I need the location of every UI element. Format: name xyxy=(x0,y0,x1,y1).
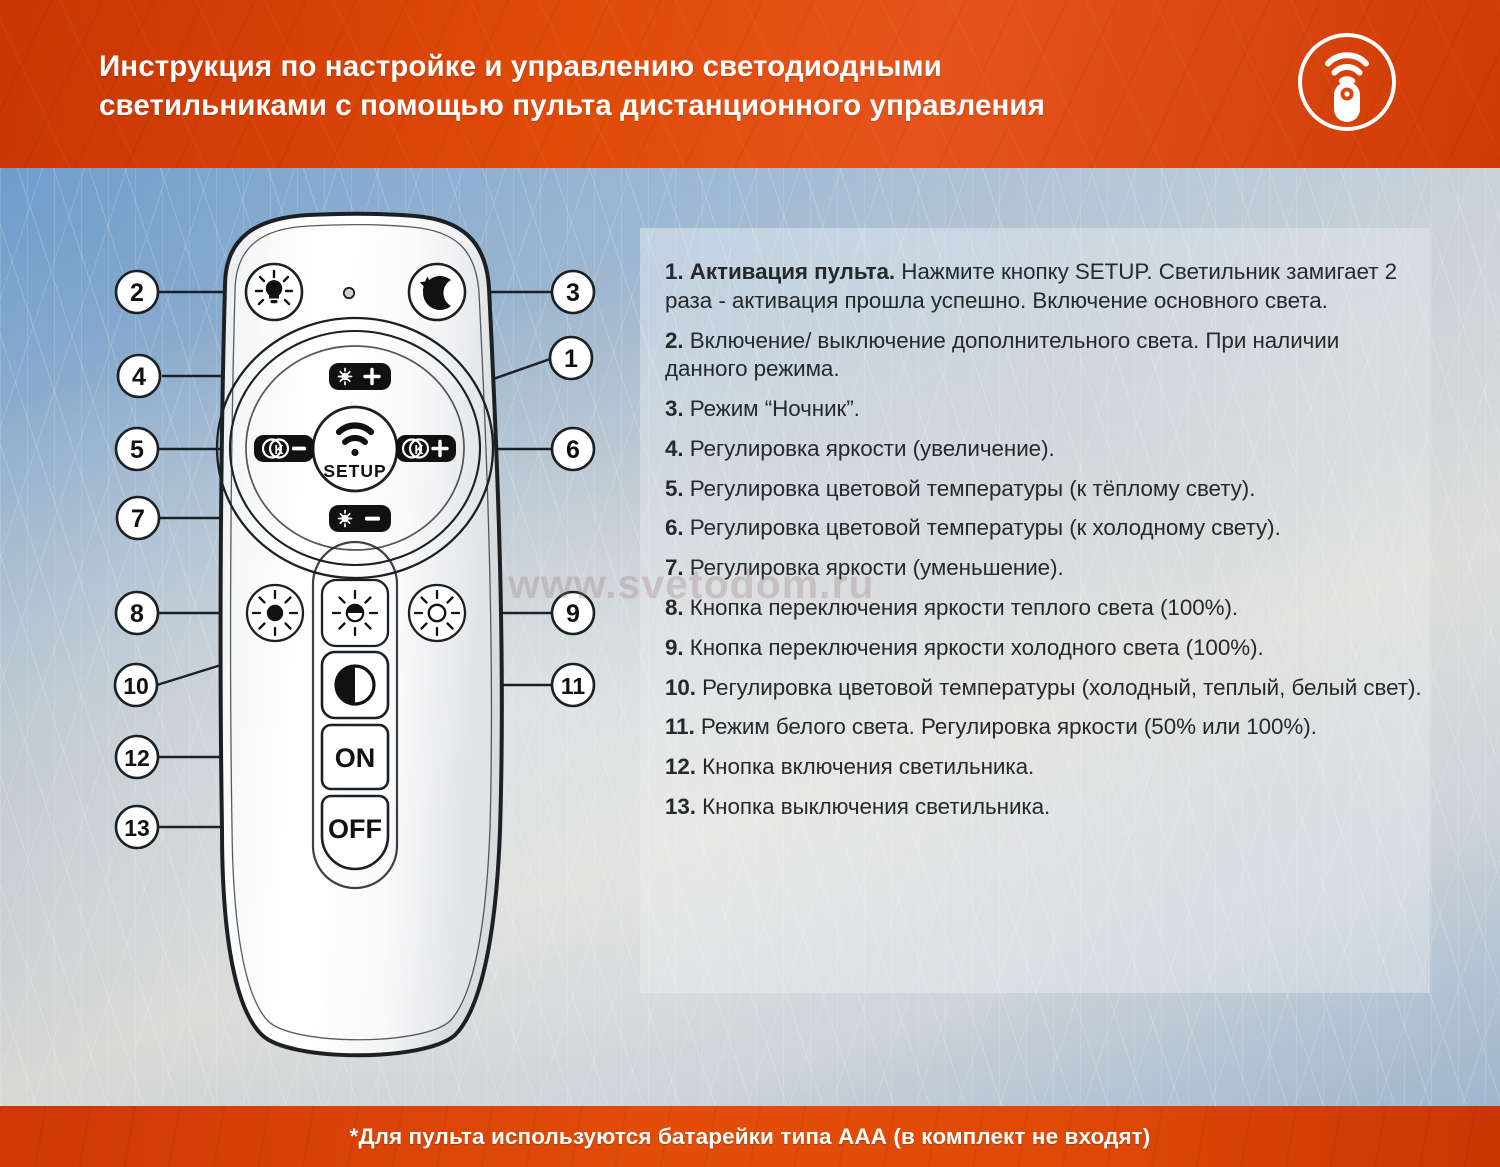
item-text: Кнопка выключения светильника. xyxy=(696,794,1050,819)
item-number: 9. xyxy=(665,635,684,660)
list-item: 10. Регулировка цветовой температуры (хо… xyxy=(665,674,1427,703)
list-item: 7. Регулировка яркости (уменьшение). xyxy=(665,554,1427,583)
page-title-line-1: Инструкция по настройке и управлению све… xyxy=(99,47,1269,86)
item-text: Регулировка цветовой температуры (холодн… xyxy=(696,675,1422,700)
list-item: 6. Регулировка цветовой температуры (к х… xyxy=(665,514,1427,543)
list-item: 4. Регулировка яркости (увеличение). xyxy=(665,435,1427,464)
item-text: Режим “Ночник”. xyxy=(684,396,860,421)
list-item: 9. Кнопка переключения яркости холодного… xyxy=(665,634,1427,663)
instructions-list: 1. Активация пульта. Нажмите кнопку SETU… xyxy=(665,258,1427,822)
footer-bar: *Для пульта используются батарейки типа … xyxy=(0,1106,1500,1167)
item-number: 4. xyxy=(665,436,684,461)
item-number: 3. xyxy=(665,396,684,421)
item-number: 6. xyxy=(665,515,684,540)
remote-control-signal-icon xyxy=(1295,30,1399,134)
item-lead: Активация пульта. xyxy=(684,259,896,284)
item-text: Регулировка яркости (увеличение). xyxy=(684,436,1055,461)
item-text: Кнопка включения светильника. xyxy=(696,754,1034,779)
item-text: Режим белого света. Регулировка яркости … xyxy=(695,714,1317,739)
item-number: 7. xyxy=(665,555,684,580)
item-number: 13. xyxy=(665,794,696,819)
item-number: 11. xyxy=(665,714,695,739)
page-title-line-2: светильниками с помощью пульта дистанцио… xyxy=(99,86,1269,125)
list-item: 11. Режим белого света. Регулировка ярко… xyxy=(665,713,1427,742)
list-item: 2. Включение/ выключение дополнительного… xyxy=(665,327,1427,385)
item-text: Включение/ выключение дополнительного св… xyxy=(665,328,1339,382)
infographic-page: Инструкция по настройке и управлению све… xyxy=(0,0,1500,1167)
list-item: 3. Режим “Ночник”. xyxy=(665,395,1427,424)
page-title: Инструкция по настройке и управлению све… xyxy=(99,47,1269,125)
item-text: Кнопка переключения яркости холодного св… xyxy=(684,635,1264,660)
footer-note: *Для пульта используются батарейки типа … xyxy=(0,1106,1500,1167)
list-item: 5. Регулировка цветовой температуры (к т… xyxy=(665,475,1427,504)
item-text: Регулировка яркости (уменьшение). xyxy=(684,555,1064,580)
item-number: 8. xyxy=(665,595,684,620)
item-number: 12. xyxy=(665,754,696,779)
list-item: 1. Активация пульта. Нажмите кнопку SETU… xyxy=(665,258,1427,316)
item-text: Регулировка цветовой температуры (к тёпл… xyxy=(684,476,1256,501)
list-item: 8. Кнопка переключения яркости теплого с… xyxy=(665,594,1427,623)
item-text: Кнопка переключения яркости теплого свет… xyxy=(684,595,1238,620)
item-number: 5. xyxy=(665,476,684,501)
list-item: 12. Кнопка включения светильника. xyxy=(665,753,1427,782)
item-text: Регулировка цветовой температуры (к холо… xyxy=(684,515,1281,540)
item-number: 10. xyxy=(665,675,696,700)
item-number: 2. xyxy=(665,328,684,353)
list-item: 13. Кнопка выключения светильника. xyxy=(665,793,1427,822)
item-number: 1. xyxy=(665,259,684,284)
header-bar: Инструкция по настройке и управлению све… xyxy=(0,0,1500,168)
